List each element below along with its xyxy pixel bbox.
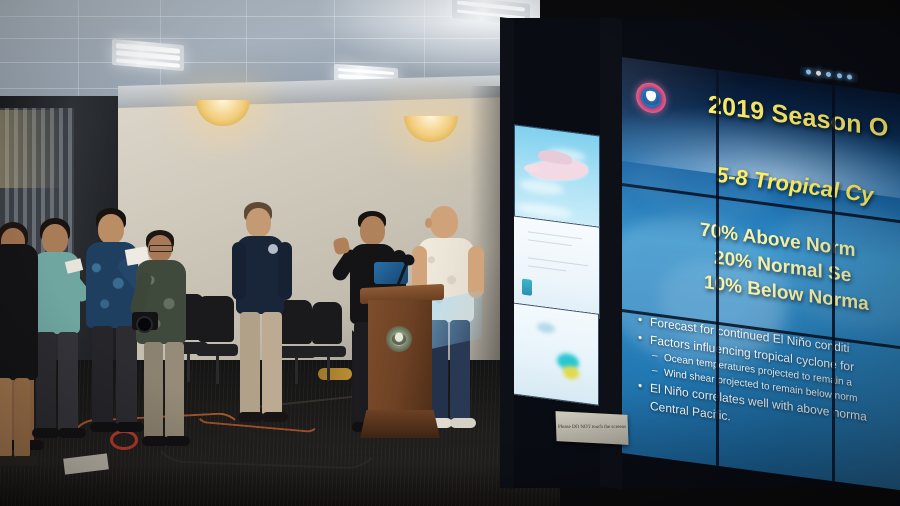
screen-warning-text: Please DO NOT touch the screens: [558, 425, 627, 432]
podium: [366, 286, 438, 438]
eyeglasses-icon: [149, 245, 173, 252]
window-daylight-glow: [0, 110, 64, 188]
slide-bullet-list: Forecast for continued El Niño conditi F…: [638, 311, 900, 452]
map-panel[interactable]: [511, 302, 599, 406]
aircraft-panel[interactable]: [514, 124, 600, 231]
presentation-slide[interactable]: 2019 Season O 5-8 Tropical Cy 70% Above …: [620, 57, 900, 491]
podium-base: [360, 410, 440, 438]
map-feature-faint: [537, 322, 555, 334]
screen-warning-sign: Please DO NOT touch the screens: [555, 411, 628, 445]
document-panel-graphic: [522, 279, 532, 296]
hurricane-hunter-aircraft-icon: [527, 160, 589, 181]
polo-patch: [268, 244, 278, 254]
panel-seam-vertical: [716, 70, 719, 466]
wall-bezel-outer: [500, 17, 514, 489]
cable-bundle-yellow: [318, 368, 352, 380]
screenshot-root: 2019 Season O 5-8 Tropical Cy 70% Above …: [0, 0, 900, 506]
panel-seam-vertical: [832, 85, 835, 481]
podium-body: [368, 300, 432, 412]
speaker-ear: [425, 218, 432, 228]
noaa-podium-seal: [386, 326, 412, 352]
display-led-indicators: [800, 66, 858, 82]
camera-lens-icon: [136, 316, 153, 333]
cable-orange-loop: [110, 430, 138, 450]
